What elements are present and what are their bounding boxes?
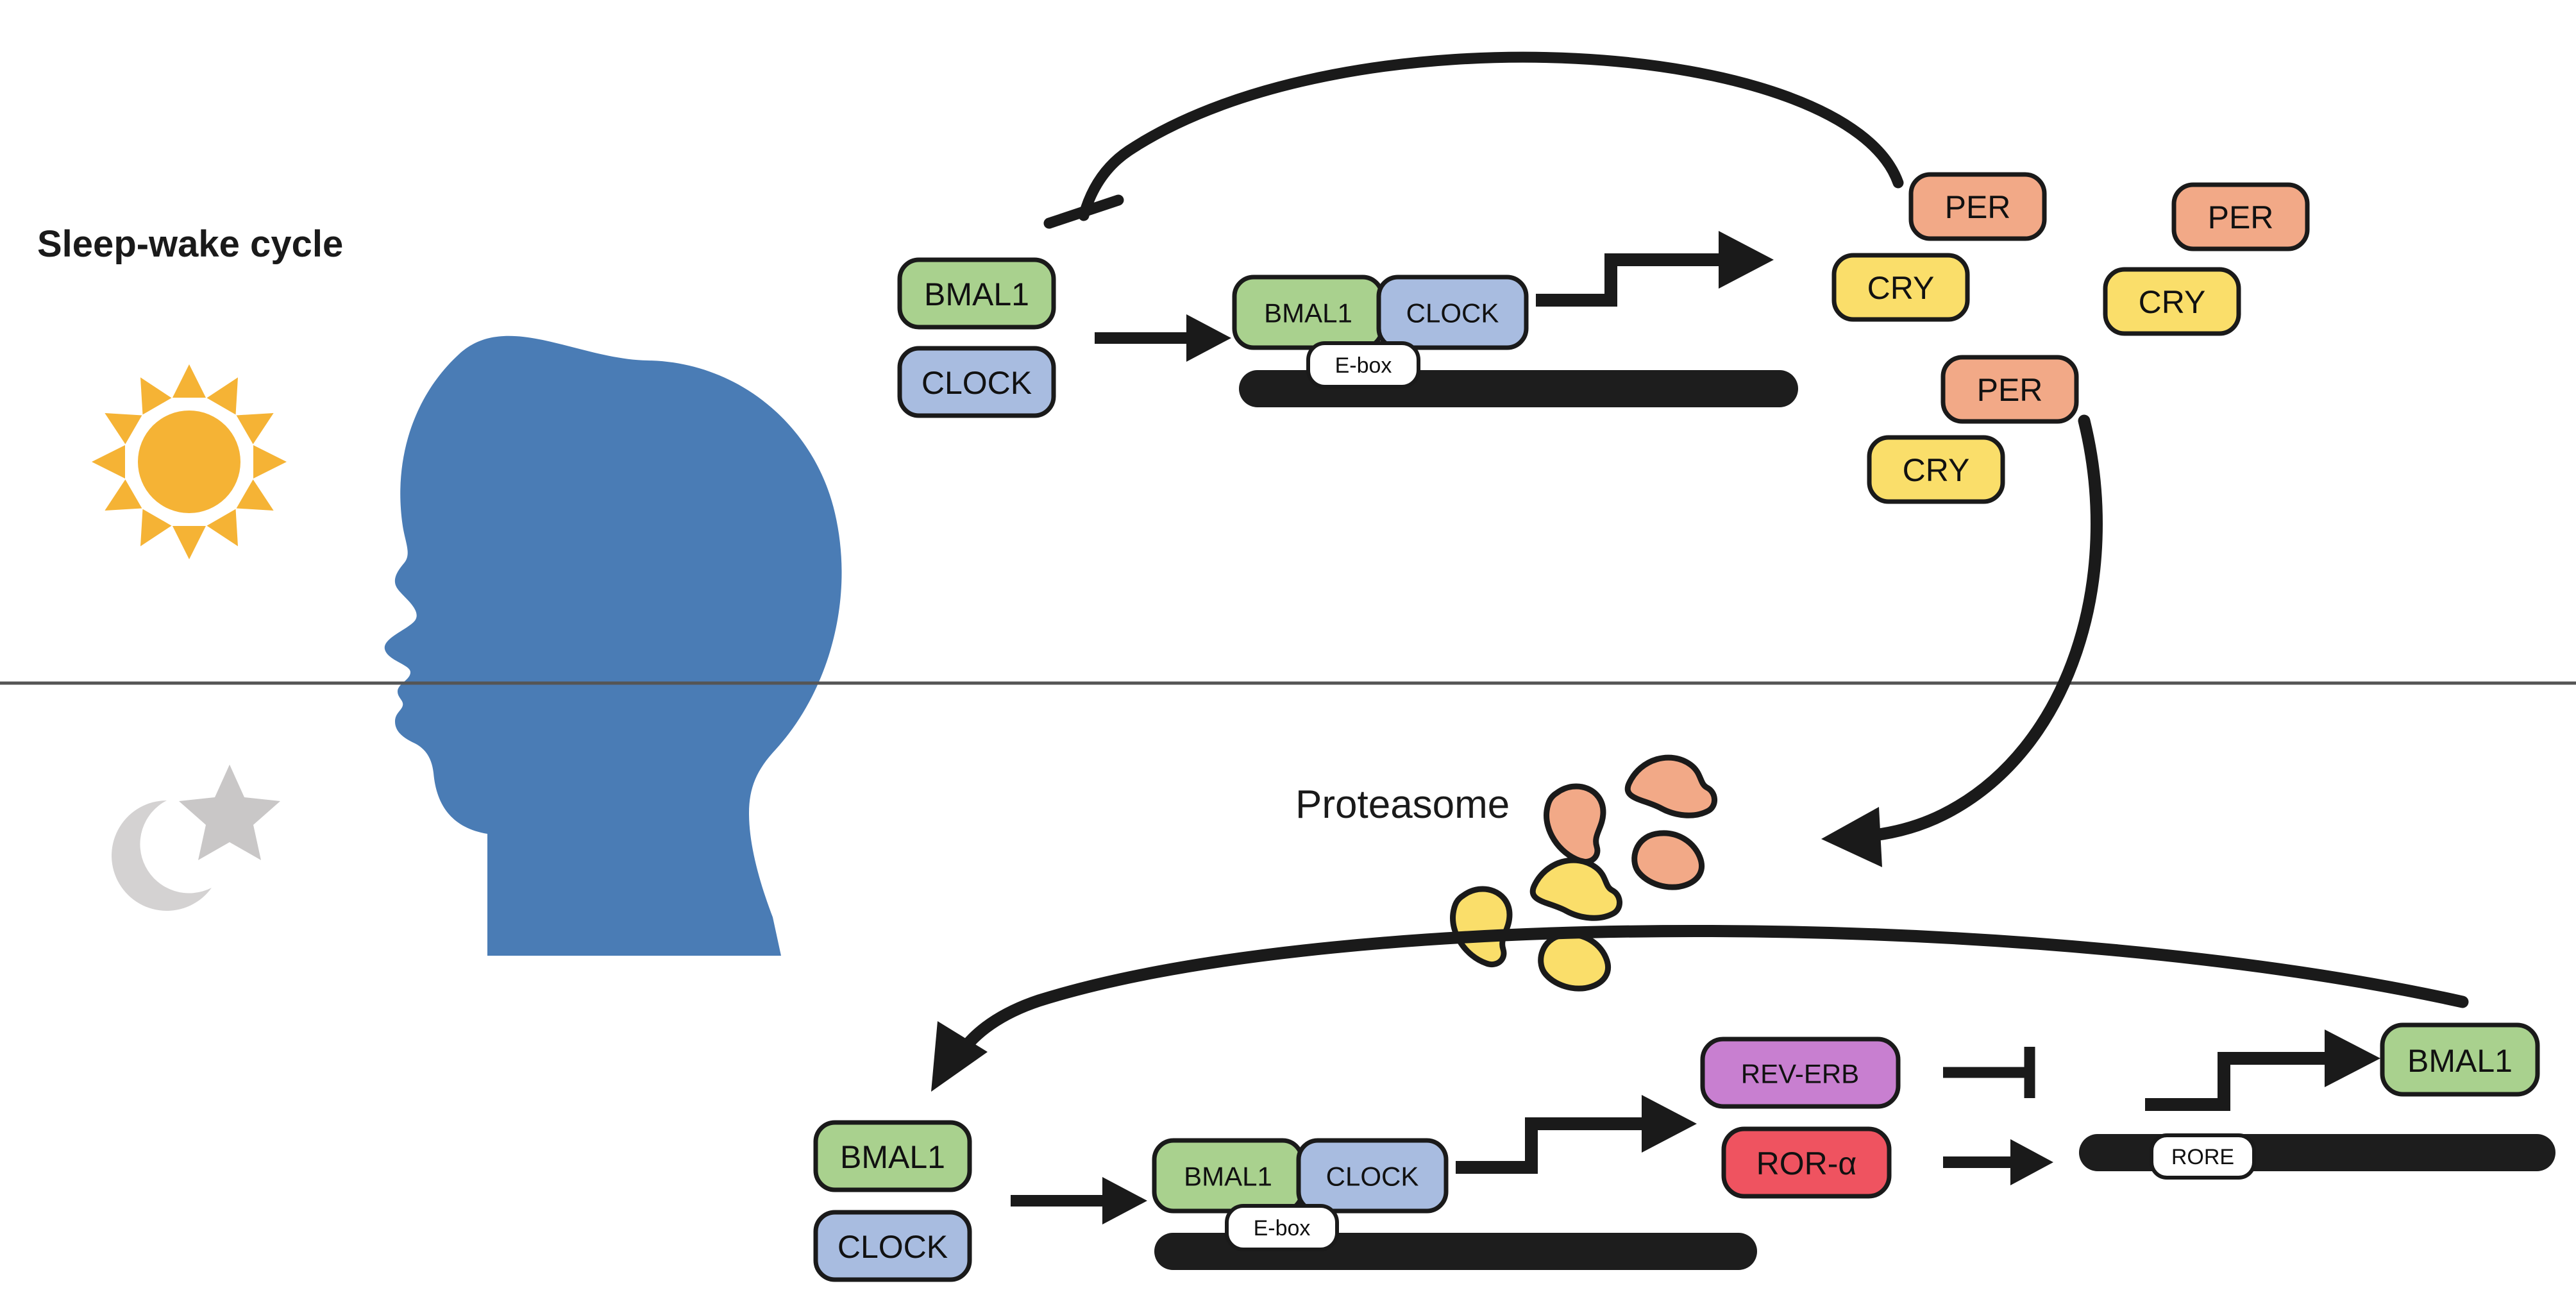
upper-ebox-label: E-box bbox=[1335, 353, 1392, 378]
lower-clock-monomer-label: CLOCK bbox=[838, 1229, 948, 1265]
cry-label-1: CRY bbox=[1867, 270, 1935, 306]
proteasome-label: Proteasome bbox=[1295, 783, 1510, 827]
lower-bmal1-product: BMAL1 bbox=[2382, 1025, 2538, 1094]
upper-clock-monomer-label: CLOCK bbox=[922, 365, 1032, 401]
rev-erb-label: REV-ERB bbox=[1741, 1059, 1859, 1089]
cry-label-2: CRY bbox=[2139, 284, 2206, 320]
upper-dimer-clock-label: CLOCK bbox=[1406, 298, 1499, 328]
lower-clock-monomer: CLOCK bbox=[816, 1212, 970, 1280]
rore-label: RORE bbox=[2171, 1145, 2234, 1169]
lower-bmal1-clock-dimer: BMAL1 CLOCK bbox=[1154, 1140, 1446, 1211]
lower-ebox-label: E-box bbox=[1254, 1216, 1311, 1240]
lower-bmal1-monomer-label: BMAL1 bbox=[840, 1139, 945, 1175]
lower-dimer-bmal1-label: BMAL1 bbox=[1184, 1162, 1272, 1192]
circadian-clock-diagram: Sleep-wake cycle bbox=[0, 0, 2576, 1304]
lower-ebox-site: E-box bbox=[1227, 1206, 1337, 1249]
rore-site: RORE bbox=[2151, 1135, 2254, 1178]
diagram-canvas: Sleep-wake cycle bbox=[0, 0, 2576, 1304]
lower-bmal1-product-label: BMAL1 bbox=[2407, 1043, 2513, 1079]
rev-erb-node: REV-ERB bbox=[1703, 1039, 1898, 1106]
page-title: Sleep-wake cycle bbox=[37, 223, 343, 265]
lower-dimer-clock-label: CLOCK bbox=[1326, 1162, 1419, 1192]
upper-clock-monomer: CLOCK bbox=[900, 348, 1054, 416]
per-label-3: PER bbox=[1977, 372, 2043, 408]
ror-alpha-node: ROR-α bbox=[1724, 1129, 1889, 1196]
lower-bmal1-monomer: BMAL1 bbox=[816, 1122, 970, 1190]
upper-bmal1-monomer: BMAL1 bbox=[900, 260, 1054, 327]
upper-dimer-bmal1-label: BMAL1 bbox=[1264, 298, 1352, 328]
per-label-1: PER bbox=[1945, 189, 2011, 225]
per-label-2: PER bbox=[2208, 199, 2274, 235]
upper-bmal1-monomer-label: BMAL1 bbox=[924, 276, 1029, 312]
upper-ebox-site: E-box bbox=[1308, 343, 1418, 387]
cry-label-3: CRY bbox=[1903, 452, 1970, 488]
ror-alpha-label: ROR-α bbox=[1756, 1146, 1857, 1181]
upper-bmal1-clock-dimer: BMAL1 CLOCK bbox=[1234, 277, 1526, 348]
